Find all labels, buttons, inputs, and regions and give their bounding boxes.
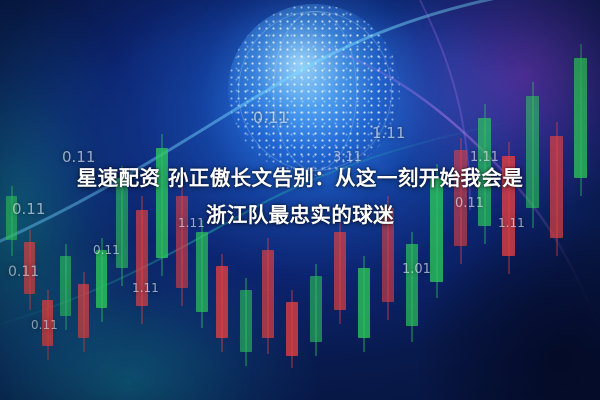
candlestick-body — [262, 250, 274, 338]
candlestick-body — [334, 232, 346, 310]
floating-number: 0.11 — [8, 264, 39, 280]
candlestick-body — [406, 244, 418, 326]
floating-number: 1.11 — [372, 124, 405, 142]
floating-number: 1.01 — [402, 262, 431, 277]
floating-number: 0.11 — [31, 318, 58, 332]
image-canvas: 0.111.110.113.111.110.110.111.110.111.11… — [0, 0, 600, 400]
floating-number: 0.11 — [93, 243, 120, 257]
candlestick-body — [310, 276, 322, 342]
candlestick-body — [196, 232, 208, 312]
floating-number: 0.11 — [253, 108, 289, 127]
candlestick-body — [358, 268, 370, 338]
candlestick-body — [216, 266, 228, 338]
headline-line-1: 星速配资 孙正傲长文告别：从这一刻开始我会是 — [10, 160, 590, 197]
candlestick-body — [286, 302, 298, 356]
headline-text: 星速配资 孙正傲长文告别：从这一刻开始我会是 浙江队最忠实的球迷 — [0, 160, 600, 234]
floating-number: 1.11 — [132, 281, 159, 295]
candlestick-body — [240, 290, 252, 352]
candlestick-body — [96, 250, 107, 308]
candlestick-body — [60, 256, 71, 316]
candlestick-body — [78, 284, 89, 338]
headline-line-2: 浙江队最忠实的球迷 — [10, 197, 590, 234]
